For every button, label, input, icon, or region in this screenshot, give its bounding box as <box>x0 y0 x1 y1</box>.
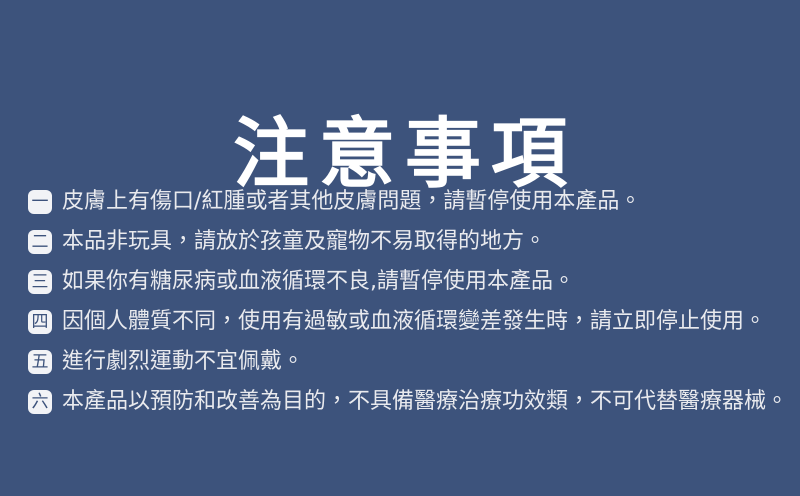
precautions-poster: 注意事項 一 皮膚上有傷口/紅腫或者其他皮膚問題，請暫停使用本產品。 二 本品非… <box>0 0 800 496</box>
list-item: 二 本品非玩具，請放於孩童及寵物不易取得的地方。 <box>28 227 788 267</box>
list-marker-three: 三 <box>28 270 52 294</box>
list-item-text: 本產品以預防和改善為目的，不具備醫療治療功效類，不可代替醫療器械。 <box>62 387 788 417</box>
list-item: 一 皮膚上有傷口/紅腫或者其他皮膚問題，請暫停使用本產品。 <box>28 187 788 227</box>
list-marker-six: 六 <box>28 390 52 414</box>
list-marker-two: 二 <box>28 230 52 254</box>
list-item-text: 皮膚上有傷口/紅腫或者其他皮膚問題，請暫停使用本產品。 <box>62 187 788 217</box>
list-marker-four: 四 <box>28 310 52 334</box>
page-title: 注意事項 <box>223 109 577 199</box>
list-item-text: 進行劇烈運動不宜佩戴。 <box>62 347 788 377</box>
precautions-list: 一 皮膚上有傷口/紅腫或者其他皮膚問題，請暫停使用本產品。 二 本品非玩具，請放… <box>28 187 788 427</box>
list-item: 五 進行劇烈運動不宜佩戴。 <box>28 347 788 387</box>
list-marker-five: 五 <box>28 350 52 374</box>
list-marker-one: 一 <box>28 190 52 214</box>
list-item: 六 本產品以預防和改善為目的，不具備醫療治療功效類，不可代替醫療器械。 <box>28 387 788 427</box>
list-item-text: 本品非玩具，請放於孩童及寵物不易取得的地方。 <box>62 227 788 257</box>
list-item: 三 如果你有糖尿病或血液循環不良,請暫停使用本產品。 <box>28 267 788 307</box>
list-item: 四 因個人體質不同，使用有過敏或血液循環變差發生時，請立即停止使用。 <box>28 307 788 347</box>
list-item-text: 因個人體質不同，使用有過敏或血液循環變差發生時，請立即停止使用。 <box>62 307 788 337</box>
list-item-text: 如果你有糖尿病或血液循環不良,請暫停使用本產品。 <box>62 267 788 297</box>
